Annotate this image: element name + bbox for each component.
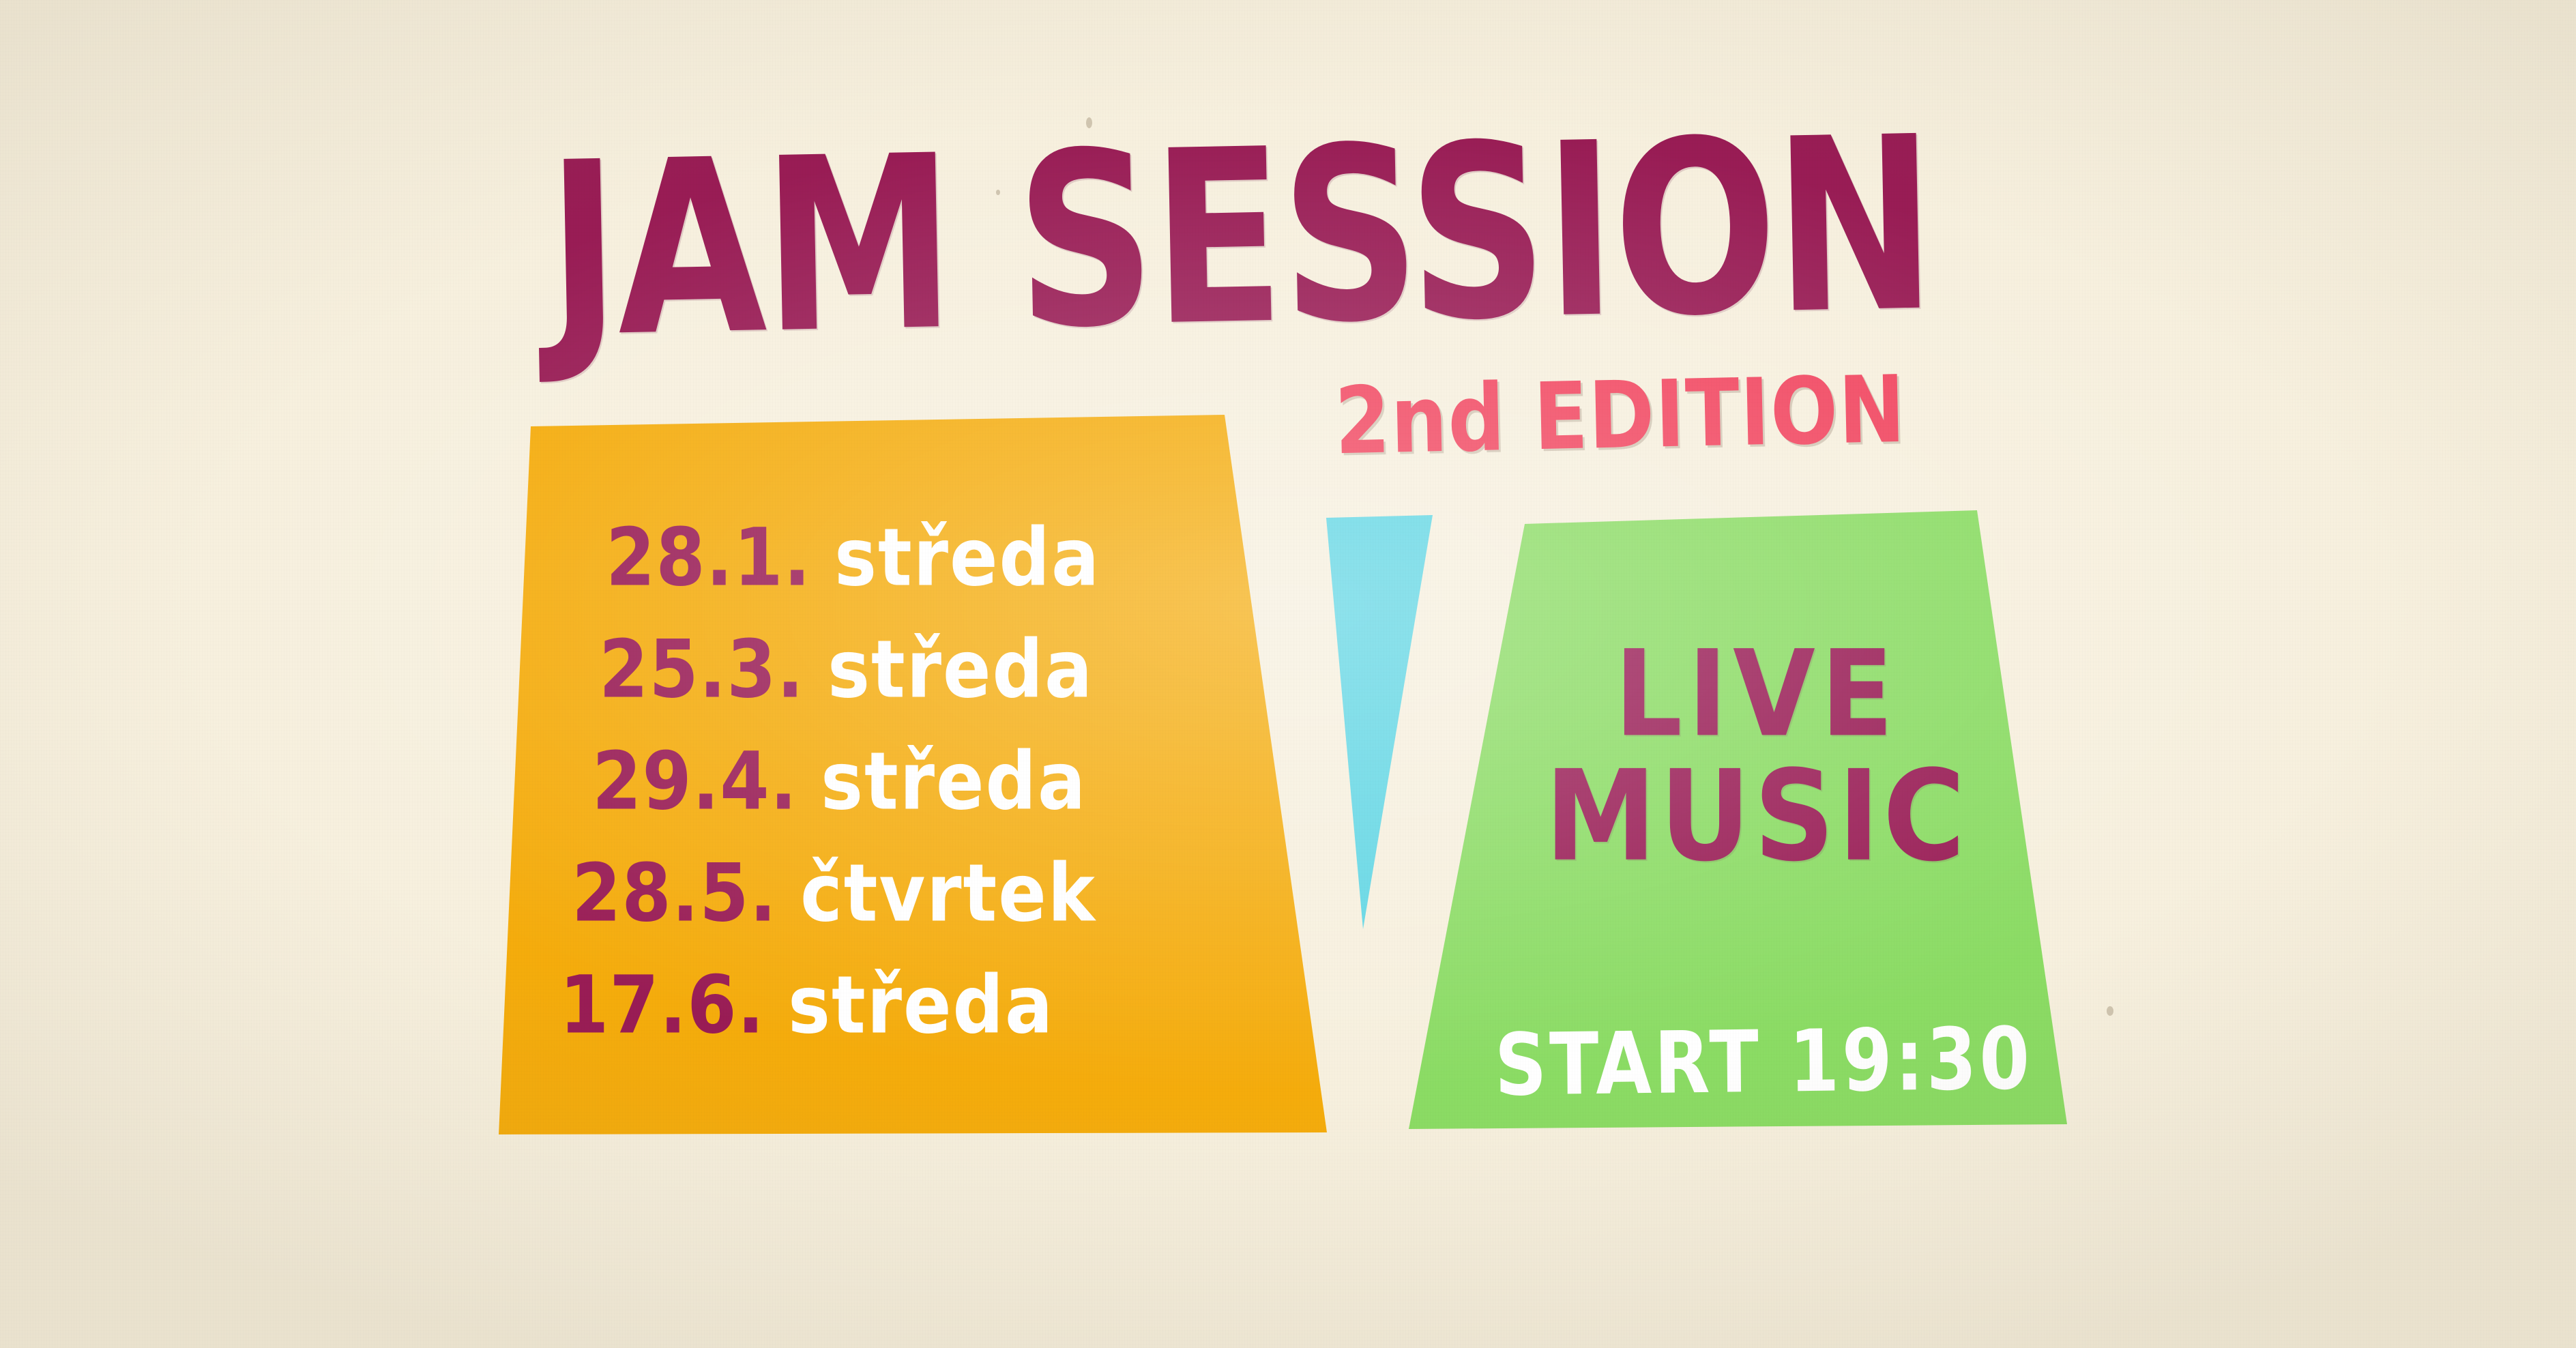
date-row: 28.1. středa: [606, 518, 1364, 597]
date-row: 17.6. středa: [559, 965, 1364, 1044]
poster-edition-label: 2nd EDITION: [1334, 356, 1907, 475]
date-value: 17.6.: [559, 965, 765, 1044]
date-weekday: středa: [834, 518, 1100, 597]
date-value: 25.3.: [599, 630, 804, 709]
dates-list: 28.1. středa 25.3. středa 29.4. středa 2…: [478, 409, 1364, 1153]
date-weekday: čtvrtek: [800, 853, 1096, 933]
poster-title-text: JAM SESSION: [546, 113, 1935, 362]
poster-canvas: JAM SESSION 2nd EDITION 28.1. středa 25.…: [0, 0, 2576, 1348]
date-weekday: středa: [828, 630, 1094, 709]
date-value: 28.5.: [572, 853, 777, 933]
date-row: 25.3. středa: [599, 630, 1364, 709]
live-music-line-2: MUSIC: [1487, 746, 2026, 887]
live-music-line-1: LIVE: [1487, 628, 2026, 761]
date-row: 29.4. středa: [592, 742, 1364, 821]
date-value: 28.1.: [606, 518, 811, 597]
date-row: 28.5. čtvrtek: [572, 853, 1364, 933]
live-music-heading: LIVE MUSIC: [1487, 634, 2026, 907]
date-value: 29.4.: [592, 742, 797, 821]
date-weekday: středa: [788, 965, 1054, 1044]
poster-title: JAM SESSION: [546, 140, 2019, 345]
date-weekday: středa: [821, 742, 1087, 821]
start-time-label: START 19:30: [1462, 1010, 2064, 1116]
